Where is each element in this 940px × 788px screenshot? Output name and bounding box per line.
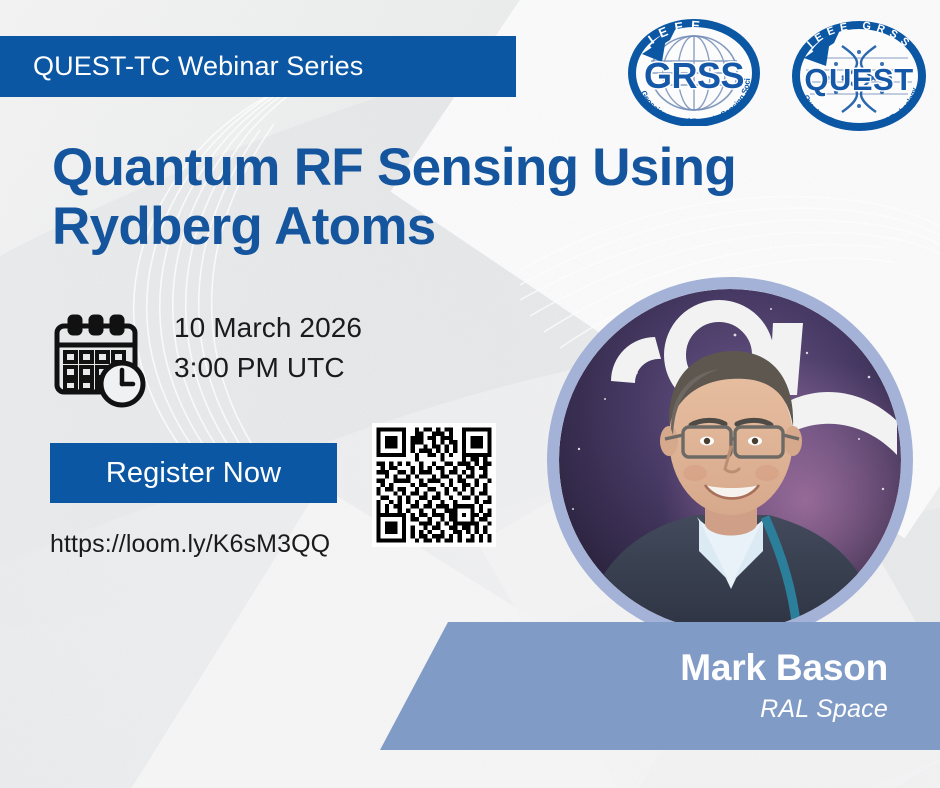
- speaker-affiliation: RAL Space: [760, 695, 888, 724]
- logo-group: IEEE GRSS Geoscience and Remote Sensing …: [618, 18, 934, 134]
- series-header-band: QUEST-TC Webinar Series: [0, 36, 516, 97]
- speaker-portrait: [547, 277, 913, 643]
- event-date: 10 March 2026: [174, 308, 362, 348]
- speaker-name: Mark Bason: [680, 648, 888, 689]
- calendar-clock-icon: [50, 312, 152, 408]
- event-datetime-text: 10 March 2026 3:00 PM UTC: [174, 308, 362, 388]
- title-line-1: Quantum RF Sensing Using: [52, 138, 782, 197]
- ieee-grss-logo: IEEE GRSS Geoscience and Remote Sensing …: [618, 18, 770, 126]
- speaker-portrait-image: [559, 289, 901, 631]
- register-now-button[interactable]: Register Now: [50, 443, 337, 503]
- qr-code[interactable]: [372, 423, 496, 547]
- speaker-name-banner: Mark Bason RAL Space: [380, 622, 940, 750]
- webinar-announcement-poster: QUEST-TC Webinar Series IEEE: [0, 0, 940, 788]
- qr-code-image: [372, 423, 496, 547]
- webinar-title: Quantum RF Sensing Using Rydberg Atoms: [52, 138, 782, 257]
- svg-text:GRSS: GRSS: [644, 55, 744, 96]
- event-time: 3:00 PM UTC: [174, 348, 362, 388]
- svg-text:QUEST: QUEST: [804, 62, 913, 97]
- registration-url[interactable]: https://loom.ly/K6sM3QQ: [50, 530, 330, 559]
- ieee-grss-quest-logo: IEEE GRSS QUEST Quantum Earth Science an…: [784, 18, 934, 134]
- series-title: QUEST-TC Webinar Series: [0, 51, 363, 82]
- title-line-2: Rydberg Atoms: [52, 197, 782, 256]
- event-datetime-block: 10 March 2026 3:00 PM UTC: [50, 308, 362, 408]
